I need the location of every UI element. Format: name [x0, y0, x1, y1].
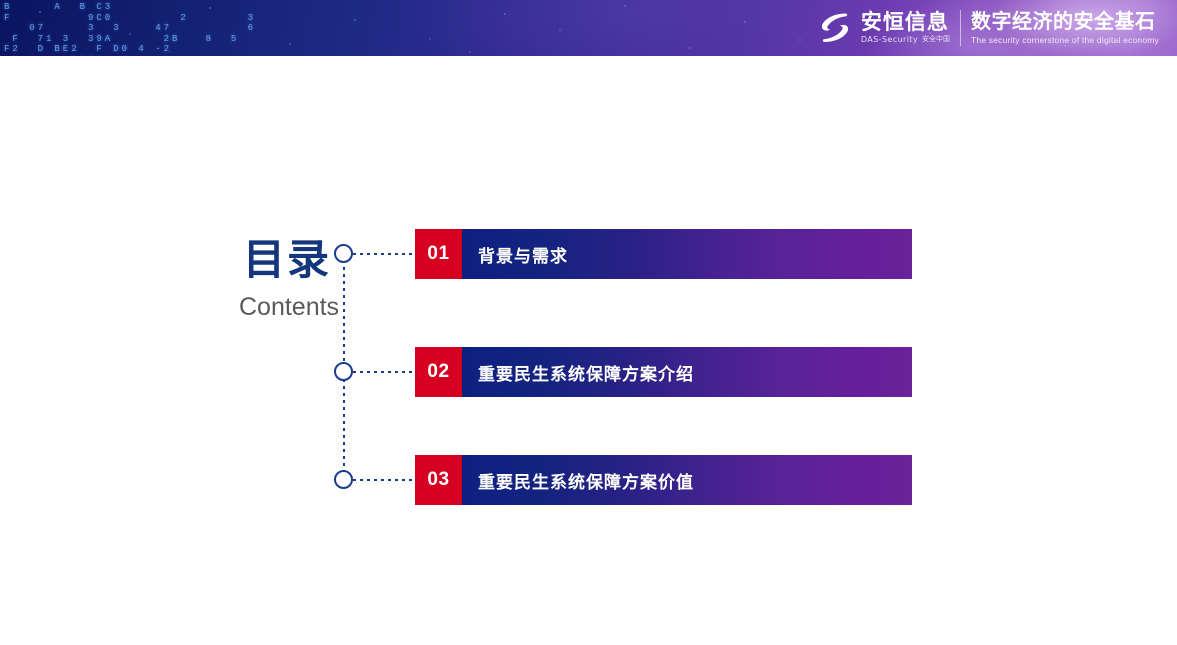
page-header: B A B C3 F 9C0 2 3 07 3 3 47 6 F 71 3 39…	[0, 0, 1177, 56]
toc-item-2-label: 重要民生系统保障方案介绍	[462, 347, 912, 397]
timeline-spur-1	[353, 253, 416, 255]
page-subtitle: Contents	[239, 292, 339, 322]
toc-item-1-number: 01	[415, 229, 462, 279]
toc-item-3-label: 重要民生系统保障方案价值	[462, 455, 912, 505]
toc-item-2-number: 02	[415, 347, 462, 397]
das-security-swoosh-icon	[815, 8, 855, 48]
slogan-cn: 数字经济的安全基石	[971, 11, 1159, 34]
toc-item-3-number: 03	[415, 455, 462, 505]
timeline-node-1	[334, 244, 353, 263]
toc-item-1-label: 背景与需求	[462, 229, 912, 279]
brand-slogan-group: 数字经济的安全基石 The security cornerstone of th…	[971, 11, 1159, 46]
company-name-en: DAS-Security	[861, 34, 918, 45]
slogan-en: The security cornerstone of the digital …	[971, 34, 1159, 46]
logo-divider	[960, 10, 961, 46]
timeline-node-2	[334, 362, 353, 381]
toc-item-3[interactable]: 03 重要民生系统保障方案价值	[415, 455, 912, 505]
company-name-en-sub: 安全中国	[922, 34, 950, 45]
hex-code-decoration: B A B C3 F 9C0 2 3 07 3 3 47 6 F 71 3 39…	[4, 2, 179, 56]
brand-name-group: 安恒信息 DAS-Security 安全中国	[861, 11, 950, 45]
toc-item-1[interactable]: 01 背景与需求	[415, 229, 912, 279]
company-name-en-row: DAS-Security 安全中国	[861, 34, 950, 45]
timeline-spur-2	[353, 371, 416, 373]
company-name-cn: 安恒信息	[861, 11, 950, 34]
toc-item-2[interactable]: 02 重要民生系统保障方案介绍	[415, 347, 912, 397]
page-title: 目录	[243, 236, 331, 284]
brand-logo: 安恒信息 DAS-Security 安全中国 数字经济的安全基石 The sec…	[815, 5, 1159, 51]
timeline-node-3	[334, 470, 353, 489]
timeline-spur-3	[353, 479, 416, 481]
